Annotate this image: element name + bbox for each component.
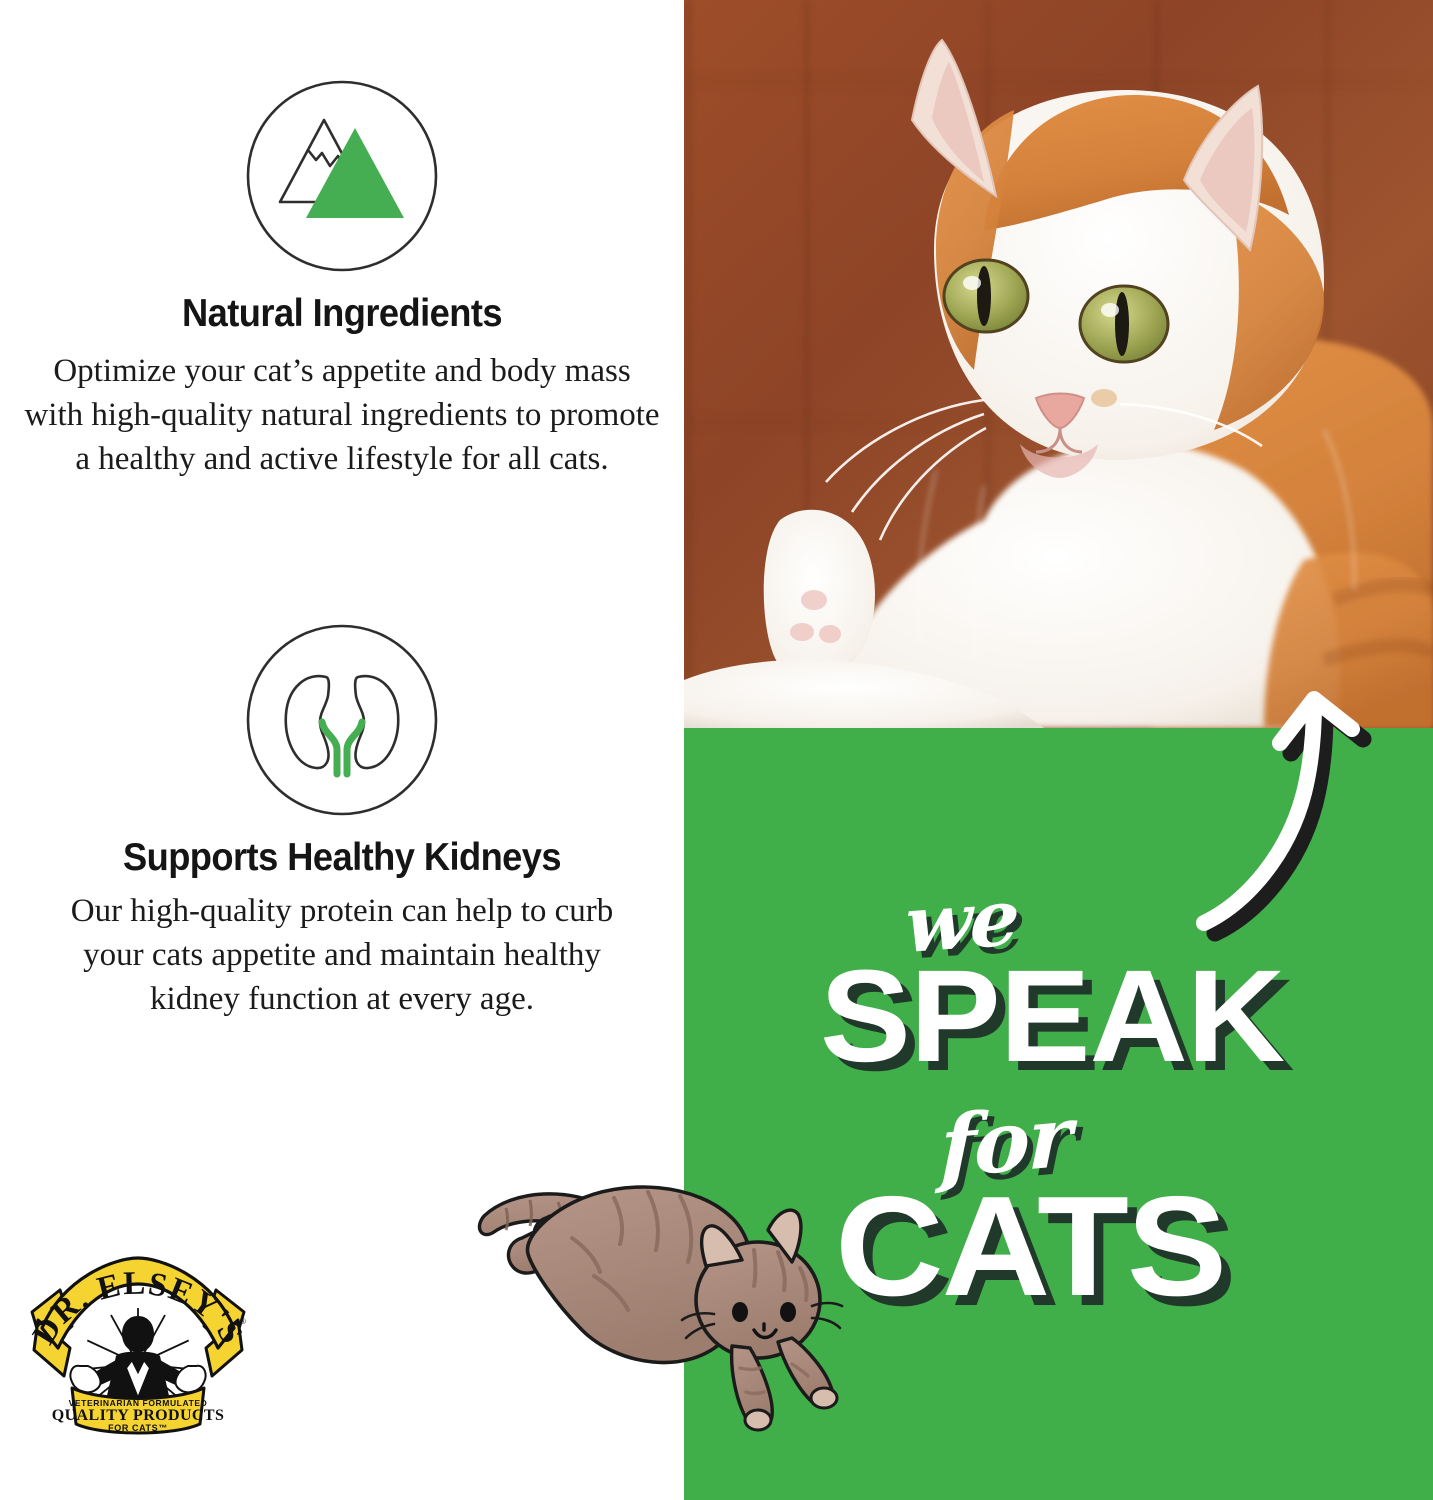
headline-word-speak: SPEAK <box>820 950 1284 1081</box>
feature-natural-ingredients: Natural Ingredients Optimize your cat’s … <box>0 78 684 482</box>
mountain-icon <box>0 78 684 274</box>
promo-infographic: Natural Ingredients Optimize your cat’s … <box>0 0 1433 1500</box>
headline-block: we SPEAK for CATS <box>684 728 1433 1328</box>
kidney-icon <box>0 622 684 818</box>
feature-body: Optimize your cat’s appetite and body ma… <box>22 350 662 482</box>
feature-title: Natural Ingredients <box>24 292 660 336</box>
dr-elseys-logo: DR. ELSEY'S VETERINARIAN FORMULATED QUAL… <box>24 1256 252 1436</box>
cat-photo <box>684 0 1433 728</box>
feature-supports-healthy-kidneys: Supports Healthy Kidneys Our high-qualit… <box>0 622 684 1022</box>
features-column: Natural Ingredients Optimize your cat’s … <box>0 0 684 1500</box>
logo-tagline-line2: QUALITY PRODUCTS <box>52 1407 225 1424</box>
headline-word-cats: CATS <box>835 1176 1225 1318</box>
feature-body: Our high-quality protein can help to cur… <box>42 890 642 1022</box>
logo-registered-mark: ® <box>240 1317 246 1326</box>
feature-title: Supports Healthy Kidneys <box>24 836 660 880</box>
logo-tagline-line3: FOR CATS™ <box>108 1423 168 1433</box>
